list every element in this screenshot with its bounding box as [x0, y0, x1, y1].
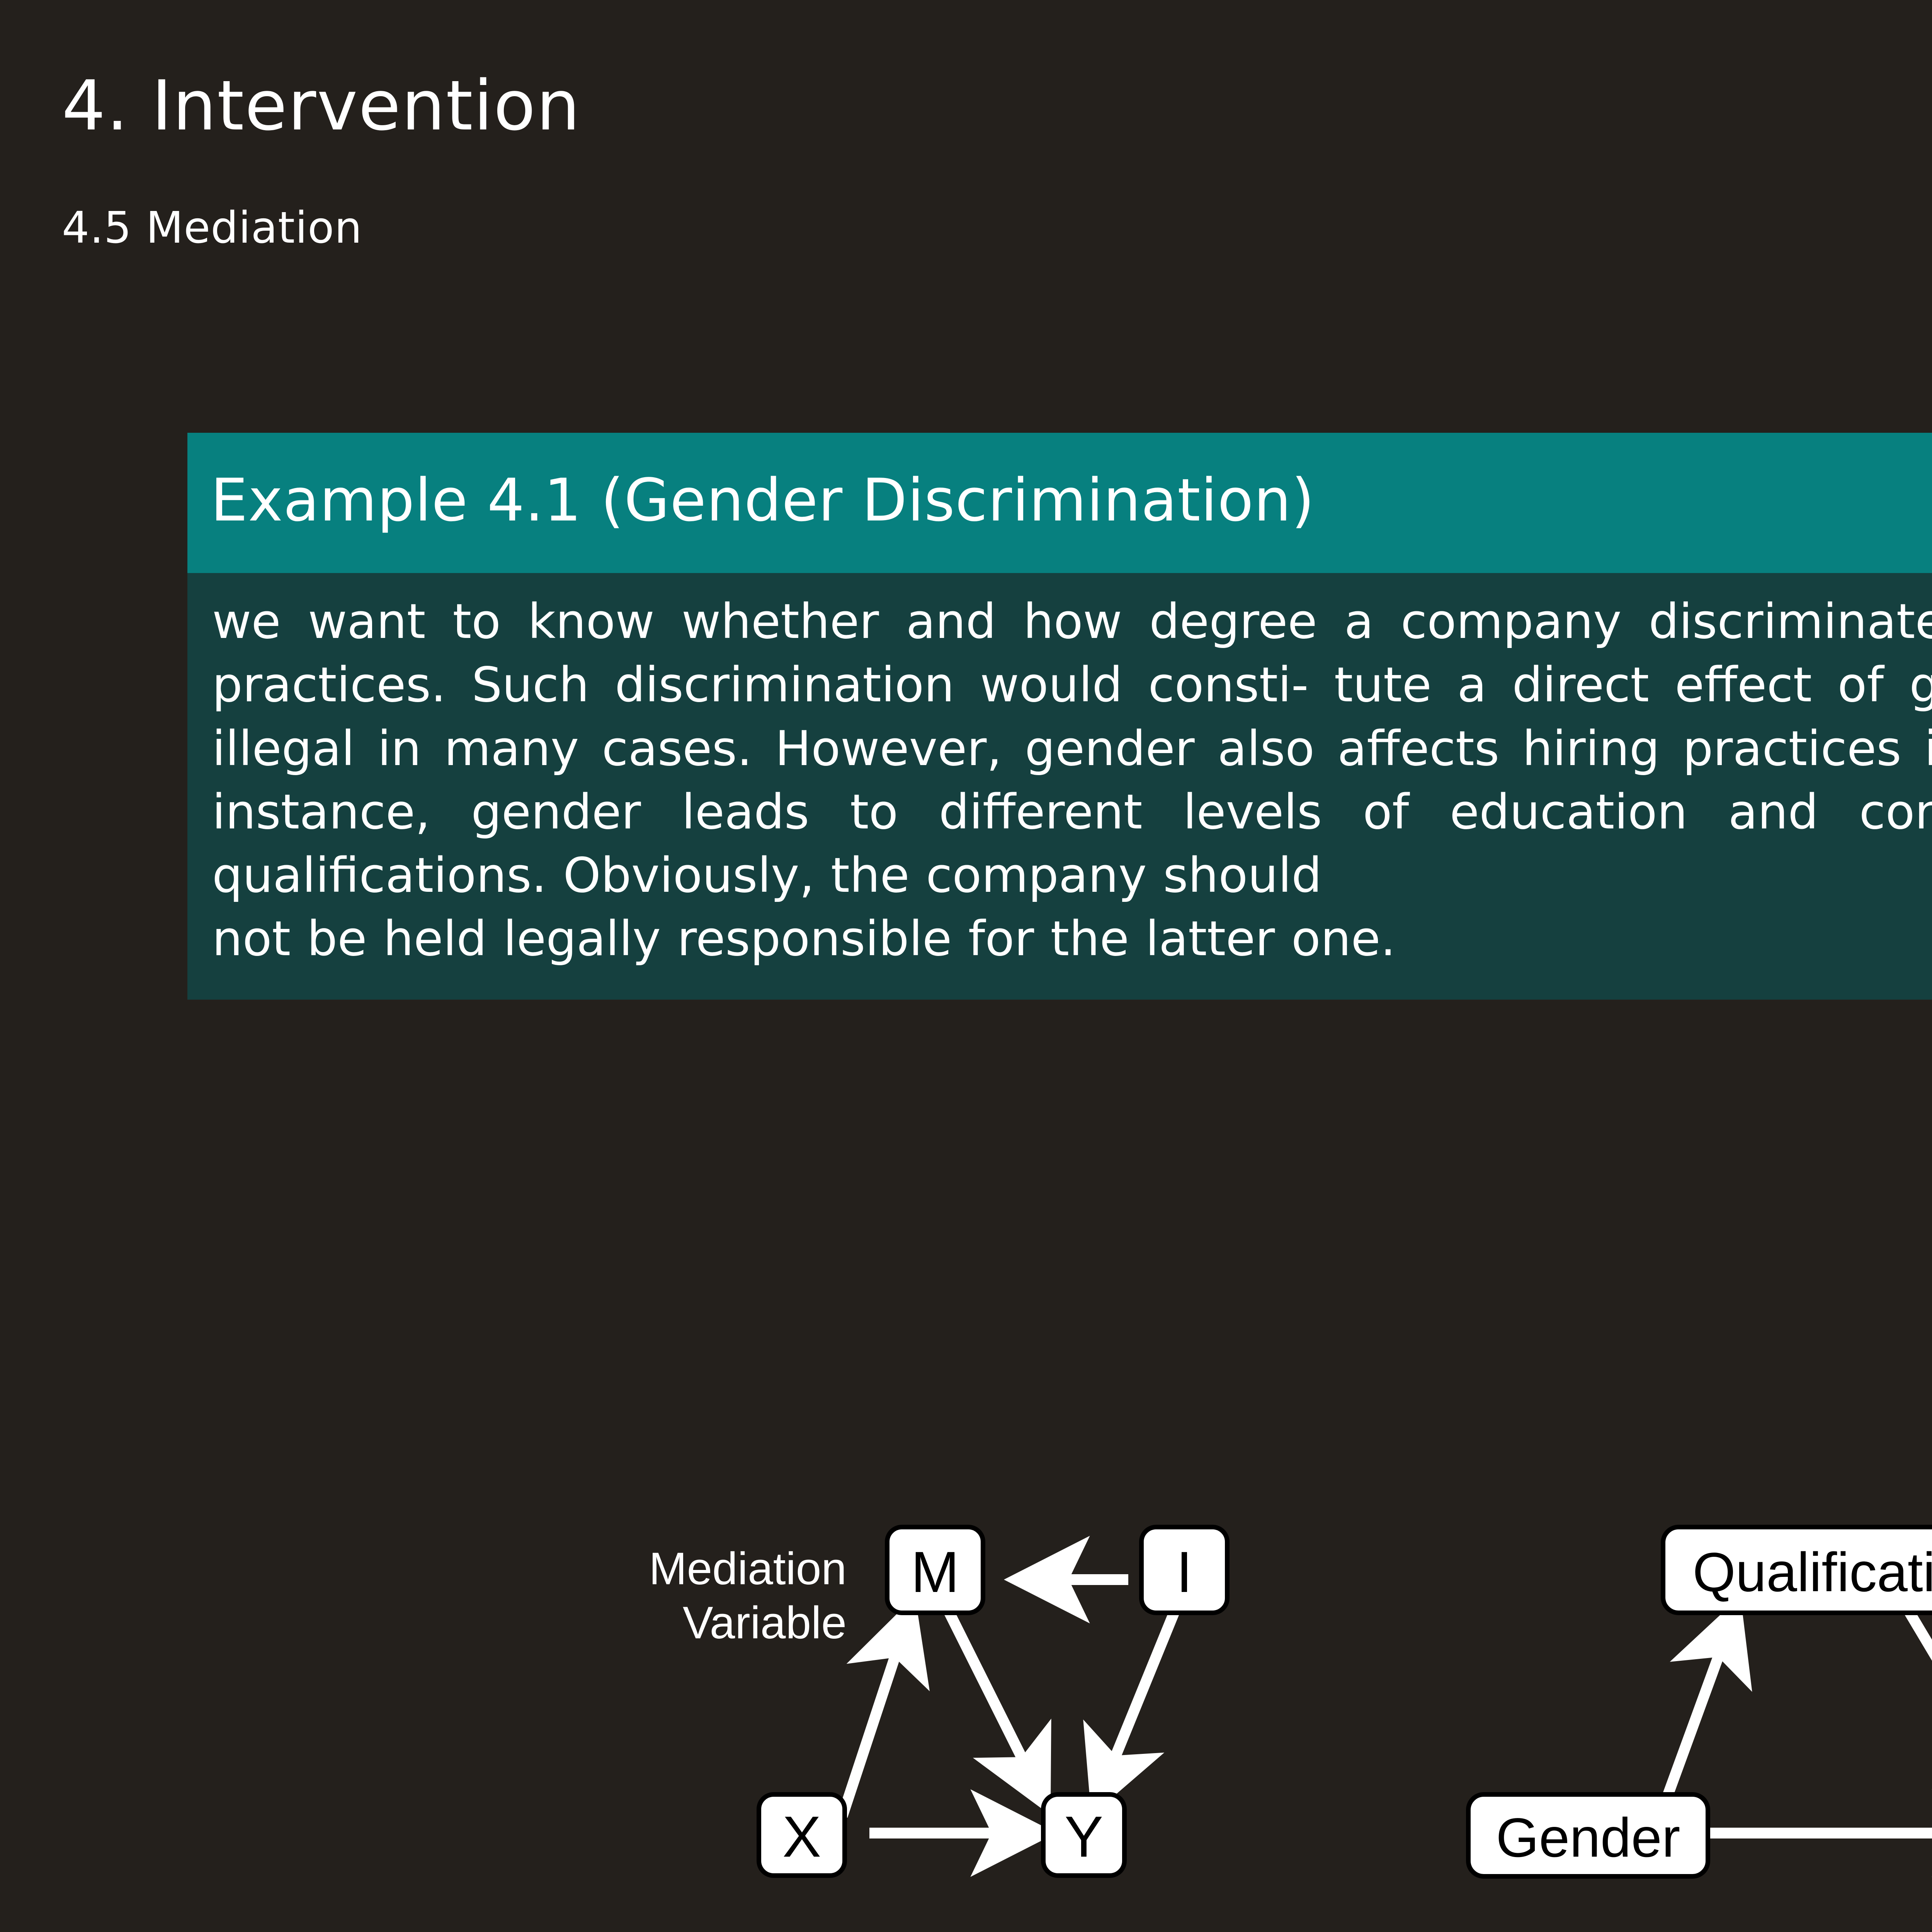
node-M[interactable]: M — [887, 1527, 983, 1613]
node-Gender[interactable]: Gender — [1468, 1794, 1708, 1876]
diagram-mediation-gender: Qualification Gender Hiring — [1468, 1527, 1932, 1876]
diagram-mediation-generic: Mediation Variable M I — [649, 1527, 1227, 1876]
body-line-3: However, gender also affects hiring prac… — [775, 721, 1932, 777]
example-block-title: Example 4.1 (Gender Discrimination) — [211, 466, 1315, 534]
node-X-label: X — [782, 1804, 821, 1869]
edge-M-to-Y — [949, 1611, 1043, 1801]
node-Y-label: Y — [1065, 1804, 1103, 1869]
diagram-left-annotation-line2: Variable — [683, 1597, 847, 1648]
node-M-label: M — [911, 1539, 959, 1604]
edge-Gender-to-Qualification — [1662, 1611, 1735, 1812]
node-Qualification-label: Qualification — [1693, 1542, 1932, 1603]
example-block: Example 4.1 (Gender Discrimination) we w… — [187, 433, 1932, 1000]
example-block-body: we want to know whether and how degree a… — [187, 573, 1932, 1000]
node-Gender-label: Gender — [1496, 1807, 1680, 1869]
body-line-0: we want to know whether and how degree a… — [212, 594, 1932, 650]
body-line-6: not be held legally responsible for the … — [212, 907, 1932, 971]
node-I-label: I — [1176, 1539, 1192, 1604]
diagram-area: Mediation Variable M I — [0, 1430, 1932, 1924]
page-title: 4. Intervention — [62, 66, 581, 146]
node-I[interactable]: I — [1141, 1527, 1227, 1613]
page-subtitle: 4.5 Mediation — [62, 203, 362, 253]
edge-X-to-M — [842, 1611, 910, 1816]
node-Qualification[interactable]: Qualification — [1663, 1527, 1932, 1613]
diagram-left-annotation-line1: Mediation — [649, 1543, 847, 1594]
example-block-header: Example 4.1 (Gender Discrimination) — [187, 433, 1932, 573]
edge-I-to-Y — [1097, 1611, 1175, 1801]
diagram-left-edges — [842, 1580, 1175, 1833]
example-block-paragraph: we want to know whether and how degree a… — [212, 590, 1932, 971]
node-Y[interactable]: Y — [1043, 1794, 1124, 1876]
edge-Qualification-to-Hiring — [1909, 1611, 1932, 1803]
node-X[interactable]: X — [759, 1794, 845, 1876]
